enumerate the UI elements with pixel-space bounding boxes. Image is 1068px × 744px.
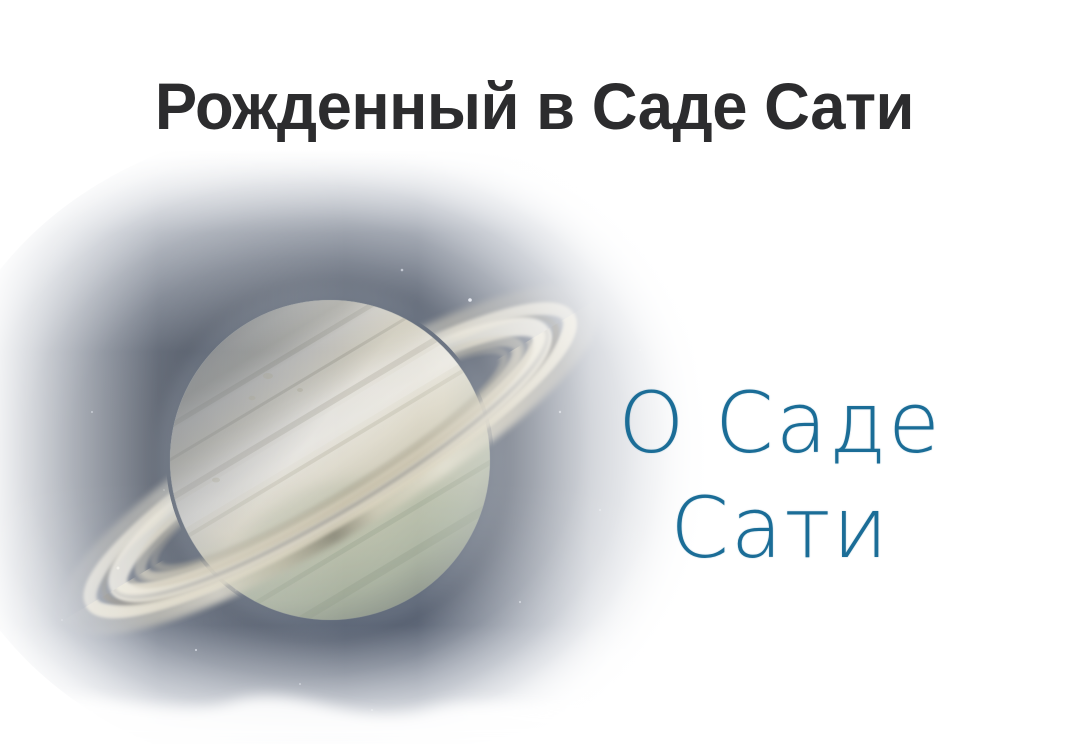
page-title: Рожденный в Саде Сати [154,72,913,141]
caption-line-2: Сати [545,473,1015,584]
caption-overlay: О Саде Сати [545,368,1015,584]
caption-line-1: О Саде [545,368,1015,479]
page-title-bar: Рожденный в Саде Сати [0,72,1068,141]
slide-canvas: Рожденный в Саде Сати [0,0,1068,744]
